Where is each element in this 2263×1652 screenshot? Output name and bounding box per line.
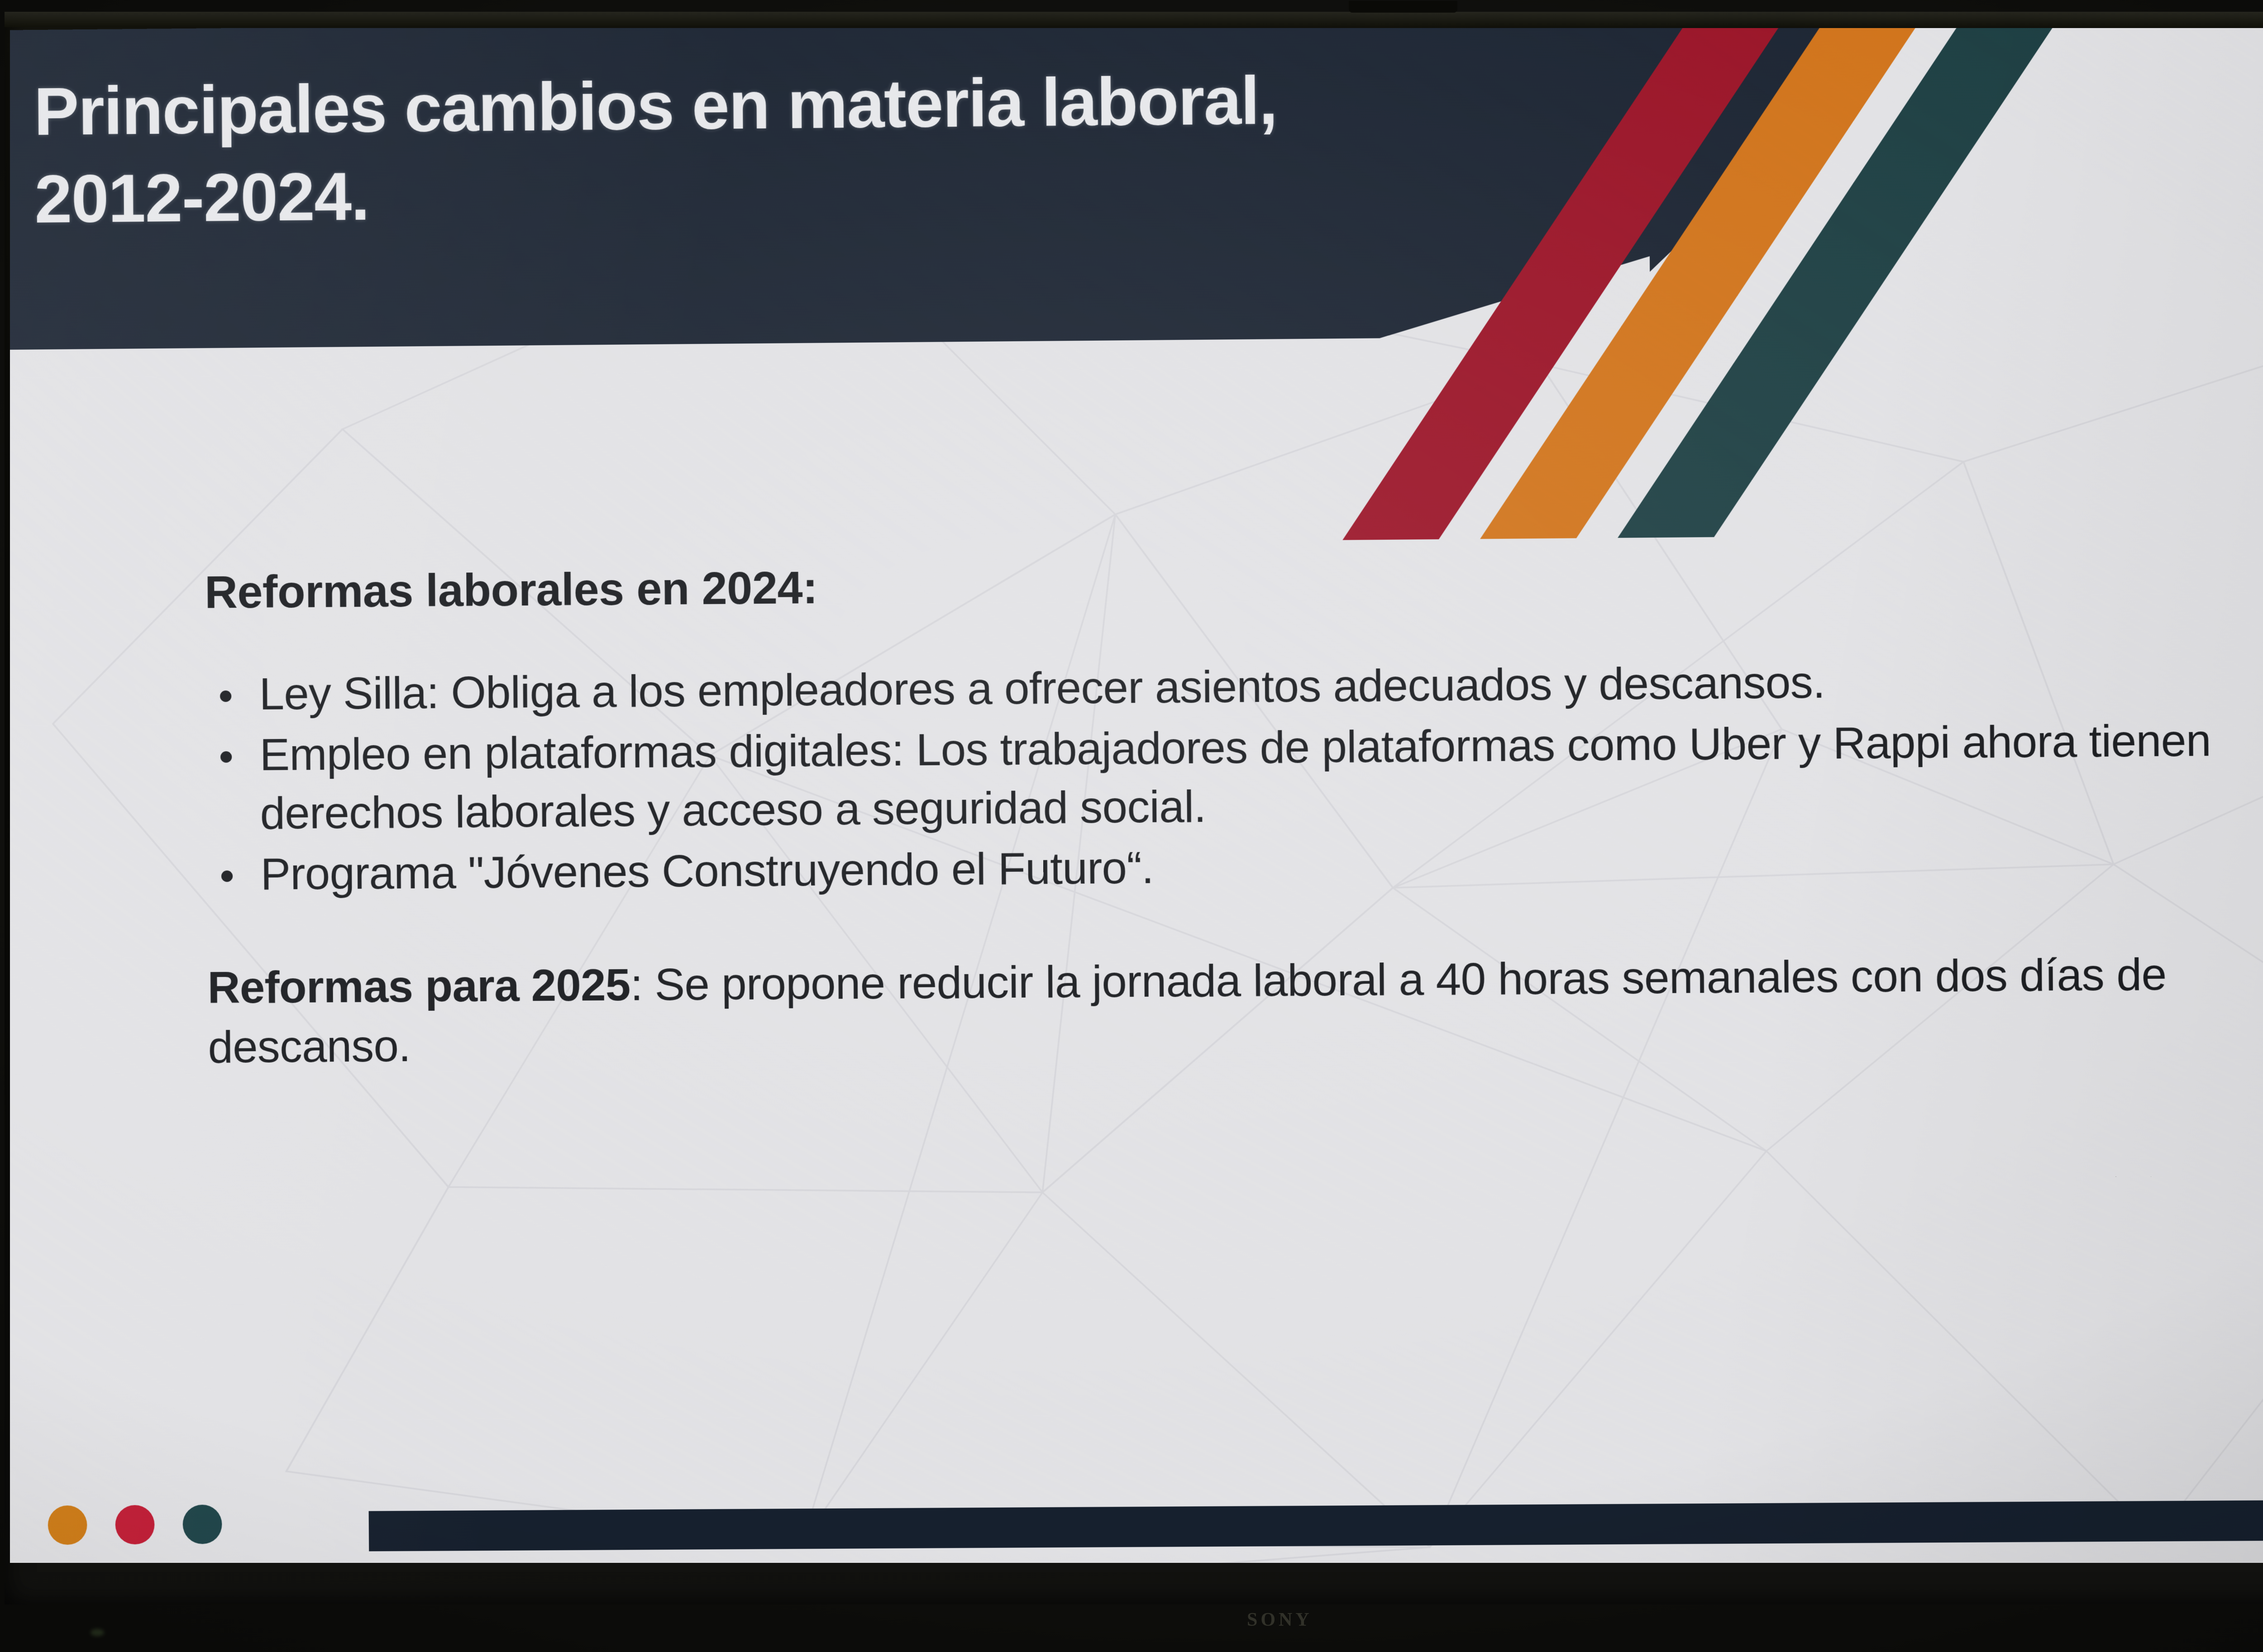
list-item: Empleo en plataformas digitales: Los tra… [205, 710, 2263, 843]
tv-standby-light-icon [91, 1629, 104, 1636]
photographed-scene: SONY [0, 0, 2263, 1652]
tv-brand-logo: SONY [1247, 1609, 1313, 1631]
list-item: Programa "Jóvenes Construyendo el Futuro… [206, 830, 2263, 904]
bezel-top-highlight [5, 12, 2263, 27]
slide-title-line-2: 2012-2024. [34, 143, 1589, 244]
slide-content: Reformas laborales en 2024: Ley Silla: O… [205, 551, 2263, 1077]
footer-dots [48, 1504, 222, 1545]
footer-dot-teal [182, 1504, 222, 1544]
footer-dot-orange [48, 1505, 87, 1545]
closing-paragraph-label: Reformas para 2025 [207, 959, 630, 1013]
tv-screen: Principales cambios en materia laboral, … [10, 28, 2263, 1563]
section-heading: Reformas laborales en 2024: [205, 551, 2263, 617]
closing-paragraph: Reformas para 2025: Se propone reducir l… [207, 943, 2263, 1077]
slide-title: Principales cambios en materia laboral, … [33, 54, 1589, 244]
tv-sensor-icon [1349, 1, 1457, 13]
presentation-slide: Principales cambios en materia laboral, … [10, 28, 2263, 1563]
bullet-list: Ley Silla: Obliga a los empleadores a of… [205, 649, 2263, 904]
diagonal-stripes-decoration [1661, 28, 2263, 381]
slide-body: Reformas laborales en 2024: Ley Silla: O… [10, 329, 2263, 1455]
slide-title-line-1: Principales cambios en materia laboral, [33, 54, 1588, 156]
footer-dot-red [115, 1505, 154, 1544]
